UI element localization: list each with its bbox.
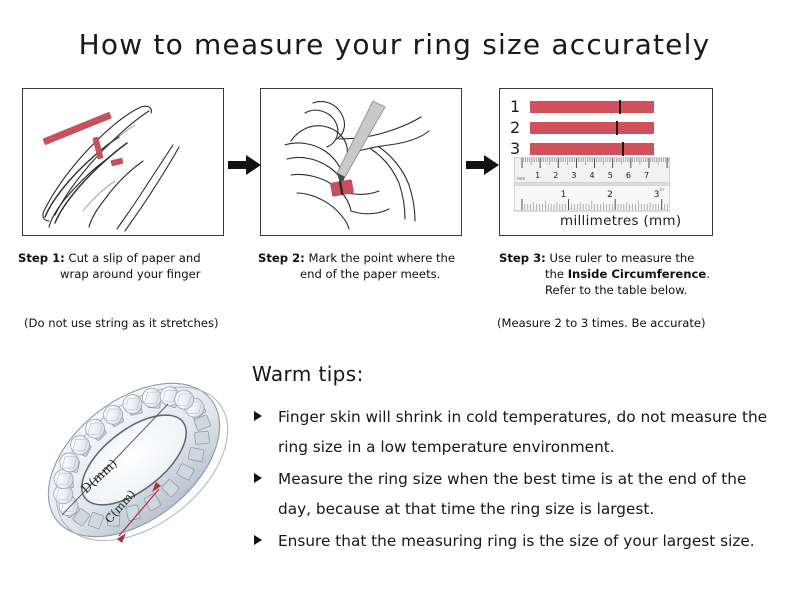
warm-tips-section: Warm tips: Finger skin will shrink in co…	[252, 362, 772, 558]
svg-text:2: 2	[607, 190, 613, 200]
svg-text:2: 2	[553, 171, 558, 180]
step-3-line1: Use ruler to measure the	[549, 251, 694, 265]
svg-text:3: 3	[571, 171, 576, 180]
svg-text:3: 3	[654, 190, 660, 200]
step-1-illustration-panel	[22, 88, 224, 236]
warm-tip-text: Finger skin will shrink in cold temperat…	[278, 408, 767, 456]
triangle-bullet-icon	[254, 535, 262, 545]
pen-stylus	[337, 101, 385, 187]
diamond-ring-illustration: D(mm) C(mm)	[18, 352, 250, 567]
svg-text:1: 1	[561, 190, 567, 200]
warm-tip-text: Ensure that the measuring ring is the si…	[278, 532, 755, 550]
step-3-note: (Measure 2 to 3 times. Be accurate)	[497, 316, 706, 330]
svg-text:7: 7	[644, 171, 649, 180]
ruler-inch-unit: in	[660, 187, 664, 192]
warm-tip-item: Measure the ring size when the best time…	[252, 464, 772, 524]
warm-tip-item: Ensure that the measuring ring is the si…	[252, 526, 772, 556]
strip-number-2: 2	[510, 120, 526, 136]
step-2-label: Step 2:	[258, 251, 305, 265]
svg-text:6: 6	[626, 171, 631, 180]
paper-strip-1	[530, 101, 654, 113]
ruler-svg: 1234567 mm 123 in	[514, 157, 670, 215]
ruler-graphic: 1234567 mm 123 in	[514, 157, 670, 215]
triangle-bullet-icon	[254, 411, 262, 421]
svg-text:4: 4	[590, 171, 595, 180]
arrow-step1-to-step2	[228, 154, 262, 176]
warm-tip-text: Measure the ring size when the best time…	[278, 470, 746, 518]
measured-strip-row-3: 3	[510, 141, 654, 157]
measured-strip-row-2: 2	[510, 120, 654, 136]
triangle-bullet-icon	[254, 473, 262, 483]
paper-strip-3	[530, 143, 654, 155]
strip-mark-1	[619, 100, 621, 114]
svg-text:5: 5	[608, 171, 613, 180]
step-3-line3: Refer to the table below.	[499, 282, 779, 298]
millimetres-unit-label: millimetres (mm)	[560, 213, 681, 229]
step-2-illustration-panel	[260, 88, 462, 236]
step-1-line1: Cut a slip of paper and	[68, 251, 200, 265]
step-3-line2-pre: the	[545, 267, 568, 281]
steps-panel-row: 1 2 3 1234567 mm	[0, 88, 789, 238]
step-2-line1: Mark the point where the	[308, 251, 455, 265]
strip-number-3: 3	[510, 141, 526, 157]
warm-tips-list: Finger skin will shrink in cold temperat…	[252, 402, 772, 556]
step-1-note: (Do not use string as it stretches)	[24, 316, 219, 330]
measured-strip-row-1: 1	[510, 99, 654, 115]
arrow-step2-to-step3	[466, 154, 500, 176]
step-1-label: Step 1:	[18, 251, 65, 265]
ring-size-guide-page: How to measure your ring size accurately	[0, 0, 789, 606]
step-1-caption: Step 1: Cut a slip of paper and wrap aro…	[18, 250, 253, 282]
page-title: How to measure your ring size accurately	[0, 28, 789, 61]
hand-with-paper-slip-drawing	[23, 89, 223, 235]
warm-tip-item: Finger skin will shrink in cold temperat…	[252, 402, 772, 462]
step-2-line2: end of the paper meets.	[258, 266, 493, 282]
step-1-line2: wrap around your finger	[18, 266, 253, 282]
step-3-illustration-panel: 1 2 3 1234567 mm	[499, 88, 713, 236]
step-3-line2: the Inside Circumference.	[499, 266, 779, 282]
warm-tips-heading: Warm tips:	[252, 362, 772, 386]
strip-mark-3	[622, 142, 624, 156]
step-3-caption: Step 3: Use ruler to measure the the Ins…	[499, 250, 779, 298]
ring-diagram-svg: D(mm) C(mm)	[18, 352, 250, 567]
strip-mark-2	[616, 121, 618, 135]
step-2-caption: Step 2: Mark the point where the end of …	[258, 250, 493, 282]
svg-text:1: 1	[535, 171, 540, 180]
paper-slip-on-finger-b	[110, 158, 123, 167]
paper-slip-loose	[42, 112, 111, 145]
step-3-label: Step 3:	[499, 251, 546, 265]
hand-marking-paper-drawing	[261, 89, 461, 235]
strip-number-1: 1	[510, 99, 526, 115]
step-3-line2-post: .	[706, 267, 710, 281]
paper-strip-2	[530, 122, 654, 134]
ruler-cm-unit: mm	[517, 176, 525, 181]
step-3-inside-circumference: Inside Circumference	[568, 267, 707, 281]
